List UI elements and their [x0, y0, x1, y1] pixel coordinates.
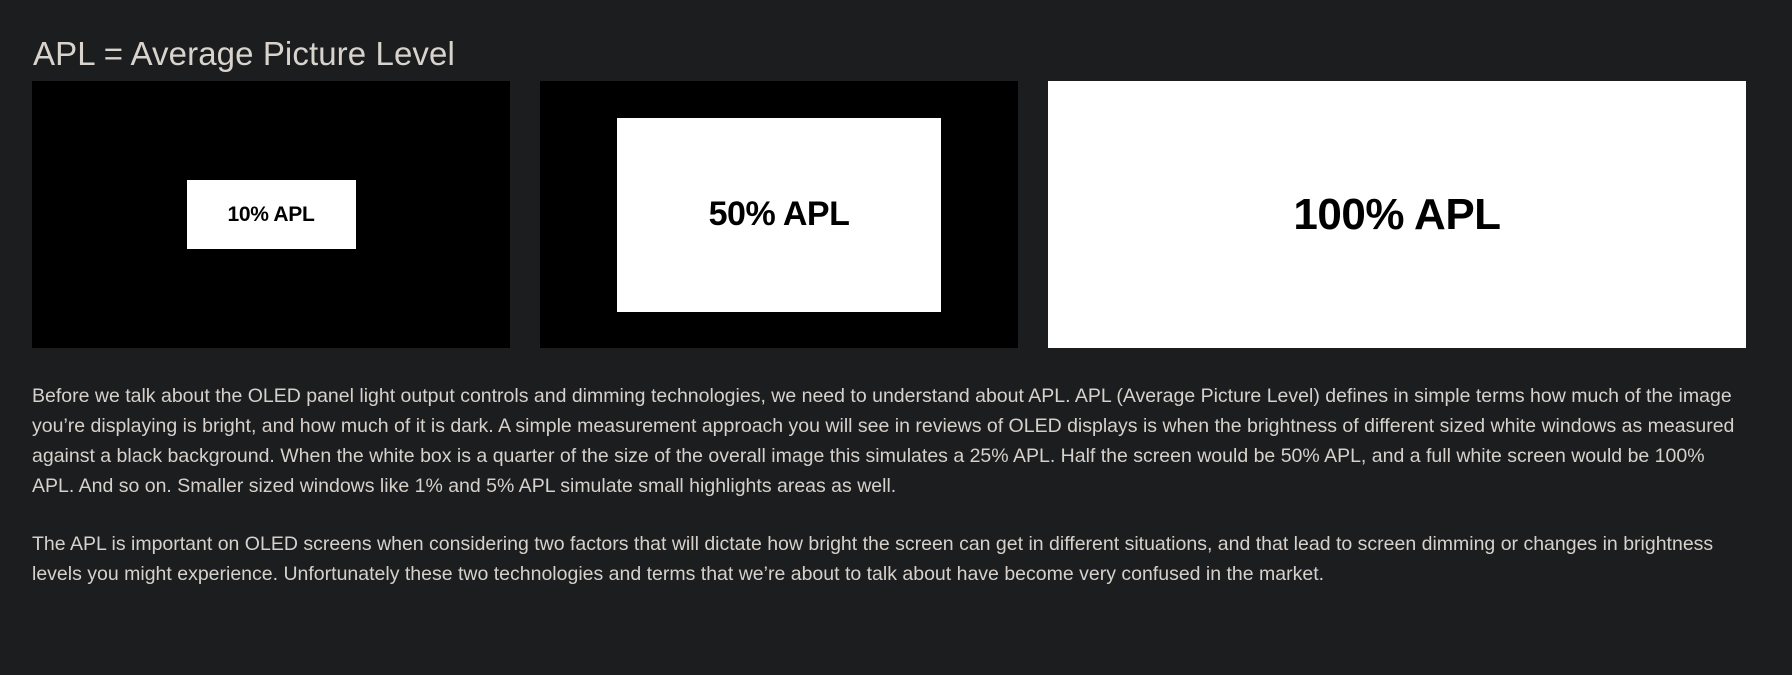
body-paragraph-2: The APL is important on OLED screens whe… — [32, 529, 1747, 589]
apl-window-100: 100% APL — [1048, 81, 1746, 348]
apl-window-10: 10% APL — [187, 180, 356, 249]
apl-window-50: 50% APL — [617, 118, 941, 312]
apl-panel-50: 50% APL — [540, 81, 1018, 348]
apl-window-label-50: 50% APL — [709, 195, 850, 234]
apl-panel-10: 10% APL — [32, 81, 510, 348]
apl-window-label-10: 10% APL — [228, 203, 315, 227]
page-title: APL = Average Picture Level — [33, 30, 455, 78]
apl-window-label-100: 100% APL — [1293, 190, 1500, 240]
article-body: Before we talk about the OLED panel ligh… — [32, 381, 1747, 589]
body-paragraph-1: Before we talk about the OLED panel ligh… — [32, 381, 1747, 501]
article-page: APL = Average Picture Level 10% APL 50% … — [0, 0, 1792, 675]
apl-figure-row: 10% APL 50% APL 100% APL — [32, 81, 1746, 348]
apl-panel-100: 100% APL — [1048, 81, 1746, 348]
